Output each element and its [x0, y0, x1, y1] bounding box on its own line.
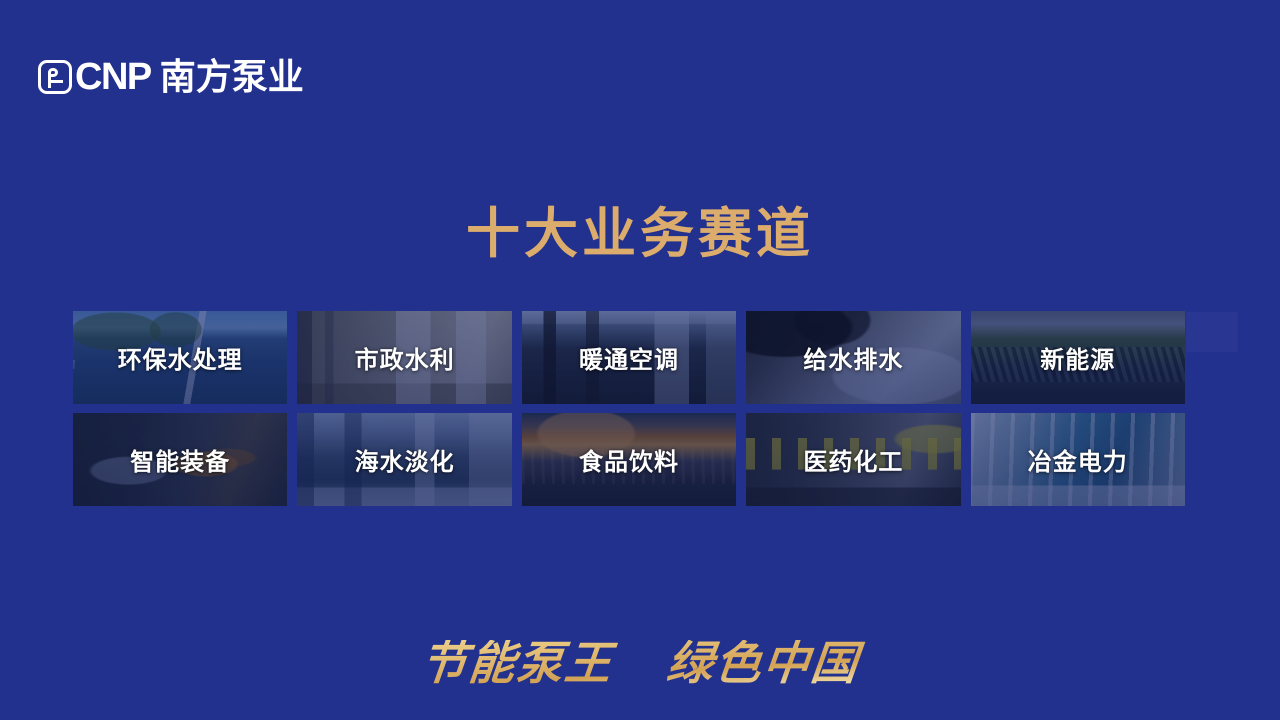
- card-new-energy[interactable]: 新能源: [971, 311, 1185, 404]
- footer-slogan-left: 节能泵王: [418, 636, 616, 690]
- card-label: 新能源: [1040, 340, 1115, 375]
- card-water-supply-drainage[interactable]: 给水排水: [746, 311, 960, 404]
- footer-slogan-right: 绿色中国: [664, 636, 862, 690]
- brand-logo: CNP 南方泵业: [38, 54, 304, 100]
- business-track-grid: 环保水处理 市政水利 暖通空调 给水排水 新能源: [73, 311, 1185, 506]
- card-label: 暖通空调: [579, 340, 679, 375]
- card-label: 食品饮料: [579, 442, 679, 477]
- card-smart-equipment[interactable]: 智能装备: [73, 413, 287, 506]
- brand-logo-text: CNP 南方泵业: [75, 58, 304, 96]
- card-hvac[interactable]: 暖通空调: [522, 311, 736, 404]
- slide-root: CNP 南方泵业 十大业务赛道 环保水处理 市政水利 暖通空调: [0, 0, 1280, 720]
- card-seawater-desalination[interactable]: 海水淡化: [297, 413, 511, 506]
- card-metallurgy-power[interactable]: 冶金电力: [971, 413, 1185, 506]
- card-label: 给水排水: [803, 340, 903, 375]
- card-label: 冶金电力: [1028, 442, 1128, 477]
- card-food-beverage[interactable]: 食品饮料: [522, 413, 736, 506]
- background-artifact-rect: [1186, 312, 1238, 352]
- cnp-rounded-square-icon: [38, 60, 72, 94]
- card-environmental-water-treatment[interactable]: 环保水处理: [73, 311, 287, 404]
- logo-bar-decor: [50, 80, 63, 83]
- page-title: 十大业务赛道: [0, 205, 1280, 264]
- brand-logo-latin: CNP: [75, 58, 151, 96]
- card-label: 海水淡化: [355, 442, 455, 477]
- footer-slogan: 节能泵王 绿色中国: [0, 640, 1280, 686]
- card-label: 智能装备: [130, 442, 230, 477]
- brand-logo-chinese: 南方泵业: [160, 59, 304, 95]
- card-label: 医药化工: [803, 442, 903, 477]
- card-pharmaceutical-chemical[interactable]: 医药化工: [746, 413, 960, 506]
- card-label: 市政水利: [355, 340, 455, 375]
- card-municipal-water-conservancy[interactable]: 市政水利: [297, 311, 511, 404]
- card-label: 环保水处理: [118, 340, 243, 375]
